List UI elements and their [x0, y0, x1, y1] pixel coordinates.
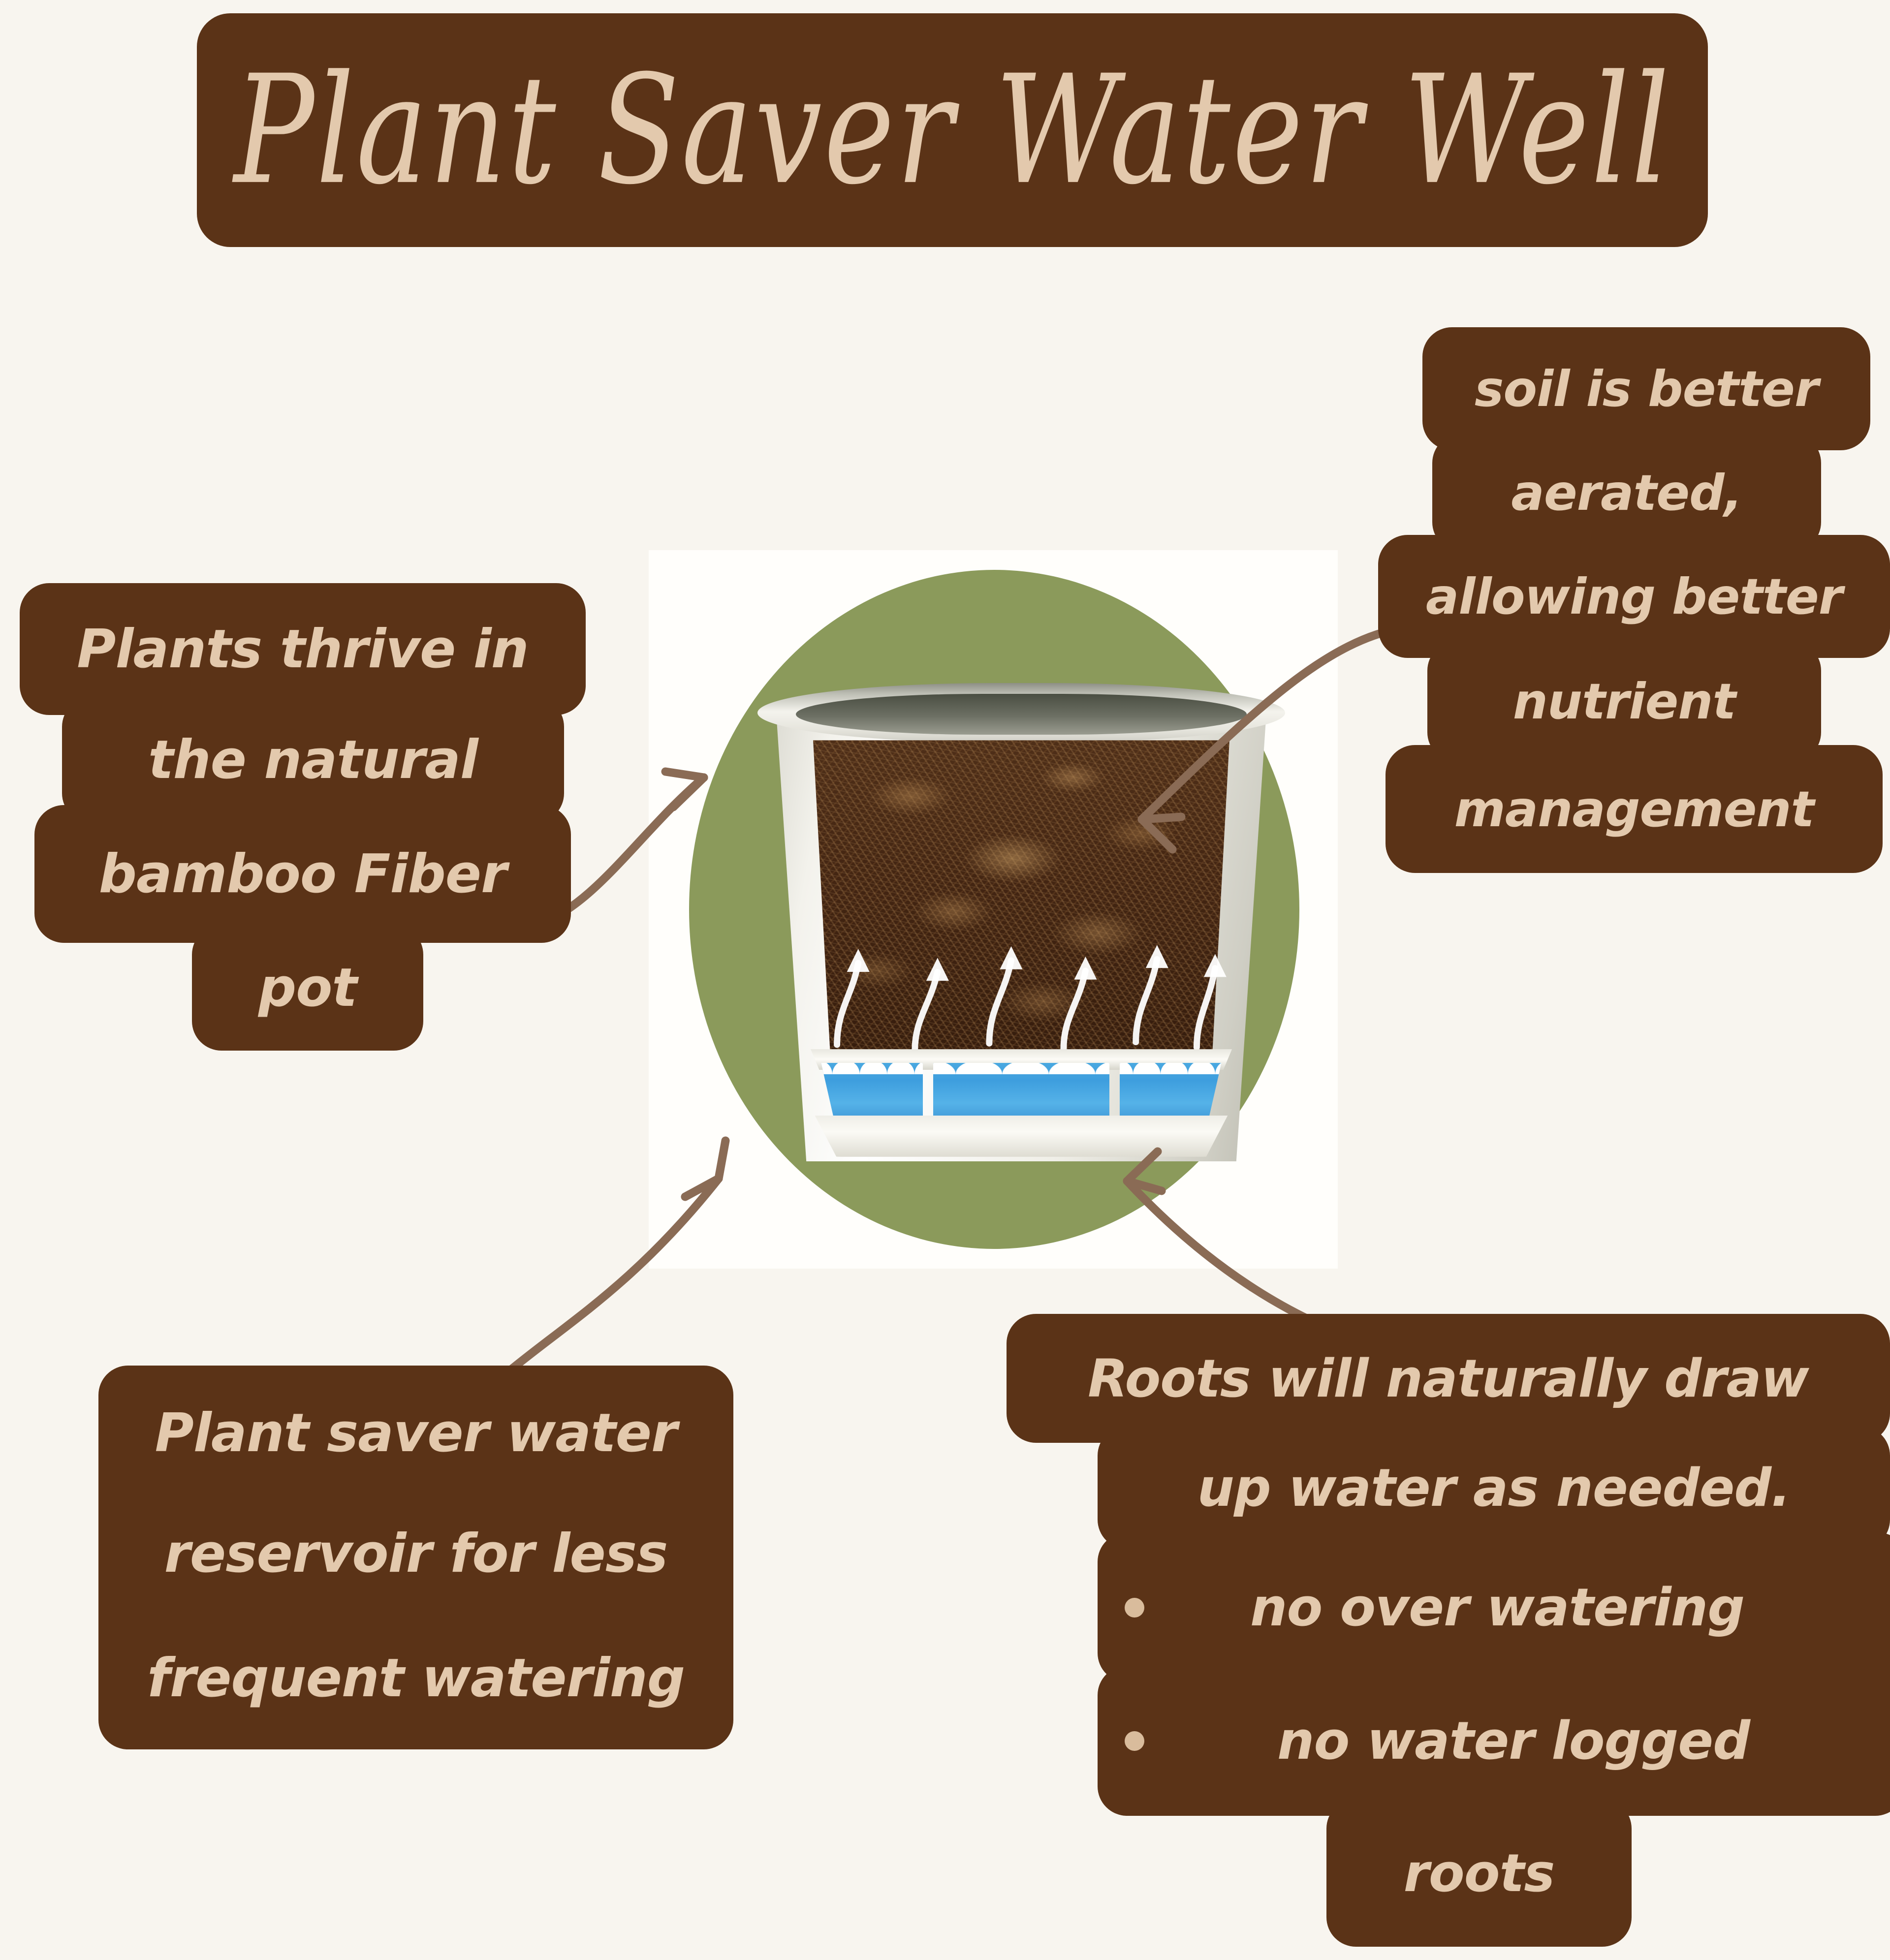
- callout-line: soil is better: [1422, 327, 1870, 450]
- pot-base: [806, 1116, 1236, 1157]
- callout-line: frequent watering: [98, 1607, 733, 1749]
- water-wicking-arrows: [809, 923, 1233, 1051]
- callout-line: Roots will naturally draw: [1007, 1314, 1890, 1443]
- bullet-dot: [1125, 1598, 1144, 1618]
- bullet-line: no over watering: [1098, 1532, 1890, 1682]
- callout-line: bamboo Fiber: [34, 805, 571, 943]
- callout-line: pot: [192, 925, 423, 1051]
- water-reservoir: [819, 1063, 1224, 1125]
- callout-line: roots: [1326, 1799, 1632, 1947]
- water-cell: [933, 1063, 1109, 1125]
- callout-line: reservoir for less: [98, 1486, 733, 1621]
- callout-line: Plants thrive in: [20, 583, 586, 715]
- bullet-label: no over watering: [1250, 1577, 1744, 1638]
- bullet-dot: [1125, 1731, 1144, 1751]
- callout-line: nutrient: [1427, 641, 1821, 762]
- water-cell: [819, 1063, 923, 1125]
- water-reservoir-callout[interactable]: Plant saver water reservoir for less fre…: [98, 1366, 733, 1749]
- soil-aeration-callout[interactable]: soil is better aerated, allowing better …: [1378, 327, 1890, 873]
- bullet-label: no water logged: [1277, 1711, 1750, 1771]
- plants-thrive-callout[interactable]: Plants thrive in the natural bamboo Fibe…: [20, 583, 600, 1051]
- title-banner: Plant Saver Water Well: [197, 13, 1708, 247]
- cutaway-pot-illustration: [765, 704, 1277, 1161]
- callout-line: Plant saver water: [98, 1366, 733, 1501]
- callout-line: aerated,: [1432, 434, 1821, 552]
- callout-line: management: [1386, 745, 1883, 873]
- callout-line: the natural: [62, 697, 564, 823]
- callout-line: up water as needed.: [1098, 1426, 1890, 1549]
- water-cell: [1120, 1063, 1224, 1125]
- bullet-line: no water logged: [1098, 1666, 1890, 1816]
- roots-draw-water-callout[interactable]: Roots will naturally draw up water as ne…: [1007, 1314, 1890, 1947]
- pot-rim-inner: [796, 694, 1246, 735]
- page-title: Plant Saver Water Well: [234, 55, 1671, 205]
- callout-line: allowing better: [1378, 535, 1890, 658]
